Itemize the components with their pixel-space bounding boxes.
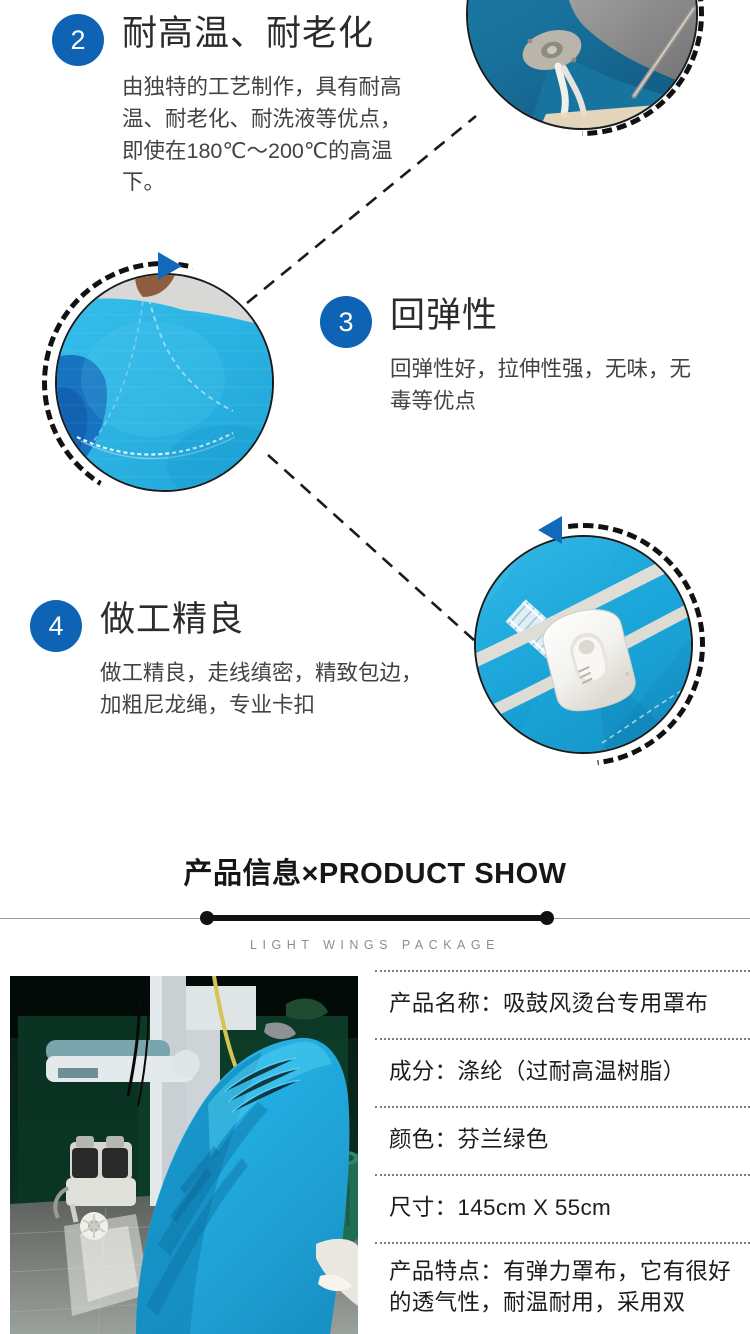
spec-table: 产品名称：吸鼓风烫台专用罩布 成分：涤纶（过耐高温树脂） 颜色：芬兰绿色 尺寸：… [375, 970, 750, 1334]
spec-text: 尺寸：145cm X 55cm [389, 1192, 611, 1223]
feature-4-body: 做工精良，走线缜密，精致包边，加粗尼龙绳，专业卡扣 [100, 658, 430, 722]
marker-arrow-middle [158, 252, 182, 280]
spec-divider [375, 1174, 750, 1176]
callout-photo-strap-clip [466, 0, 698, 130]
feature-2-body: 由独特的工艺制作，具有耐高温、耐老化、耐洗液等优点，即使在180℃～200℃的高… [122, 72, 422, 199]
callout-photo-cord-lock [474, 535, 693, 754]
spec-divider [375, 1242, 750, 1244]
spec-text: 产品特点：有弹力罩布，它有很好的透气性，耐温耐用，采用双 [389, 1256, 741, 1318]
feature-block-2: 2 耐高温、耐老化 由独特的工艺制作，具有耐高温、耐老化、耐洗液等优点，即使在1… [52, 14, 422, 199]
section-heading: 产品信息×PRODUCT SHOW LIGHT WINGS PACKAGE [0, 850, 750, 952]
feature-2-title: 耐高温、耐老化 [122, 16, 374, 53]
section-heading-subtitle: LIGHT WINGS PACKAGE [0, 938, 750, 952]
feature-3-number-badge: 3 [320, 296, 372, 348]
feature-2-header: 2 耐高温、耐老化 [52, 14, 422, 66]
spec-divider [375, 1038, 750, 1040]
feature-3-body: 回弹性好，拉伸性强，无味，无毒等优点 [390, 354, 710, 418]
spec-row-size: 尺寸：145cm X 55cm [375, 1174, 750, 1242]
feature-4-number-badge: 4 [30, 600, 82, 652]
feature-4-header: 4 做工精良 [30, 600, 430, 652]
section-divider-rule [0, 906, 750, 932]
spec-row-product-name: 产品名称：吸鼓风烫台专用罩布 [375, 970, 750, 1038]
feature-block-4: 4 做工精良 做工精良，走线缜密，精致包边，加粗尼龙绳，专业卡扣 [30, 600, 430, 722]
marker-arrow-bottom [538, 516, 562, 544]
spec-row-material: 成分：涤纶（过耐高温树脂） [375, 1038, 750, 1106]
spec-text: 产品名称：吸鼓风烫台专用罩布 [389, 988, 708, 1019]
spec-text: 成分：涤纶（过耐高温树脂） [389, 1056, 685, 1087]
feature-3-title: 回弹性 [390, 298, 498, 335]
divider-dot-left [200, 911, 214, 925]
product-detail-page: 2 耐高温、耐老化 由独特的工艺制作，具有耐高温、耐老化、耐洗液等优点，即使在1… [0, 0, 750, 1334]
spec-row-features: 产品特点：有弹力罩布，它有很好的透气性，耐温耐用，采用双 [375, 1242, 750, 1334]
product-photo [10, 976, 358, 1334]
callout-photo-fabric-seam [55, 273, 274, 492]
divider-dot-right [540, 911, 554, 925]
spec-text: 颜色：芬兰绿色 [389, 1124, 549, 1155]
spec-divider [375, 970, 750, 972]
spec-divider [375, 1106, 750, 1108]
feature-3-header: 3 回弹性 [320, 296, 700, 348]
product-info-section: 产品名称：吸鼓风烫台专用罩布 成分：涤纶（过耐高温树脂） 颜色：芬兰绿色 尺寸：… [0, 970, 750, 1334]
feature-2-number-badge: 2 [52, 14, 104, 66]
feature-block-3: 3 回弹性 回弹性好，拉伸性强，无味，无毒等优点 [320, 296, 700, 418]
spec-row-color: 颜色：芬兰绿色 [375, 1106, 750, 1174]
feature-4-title: 做工精良 [100, 602, 244, 639]
section-heading-title: 产品信息×PRODUCT SHOW [0, 850, 750, 892]
divider-thick-line [207, 915, 547, 921]
